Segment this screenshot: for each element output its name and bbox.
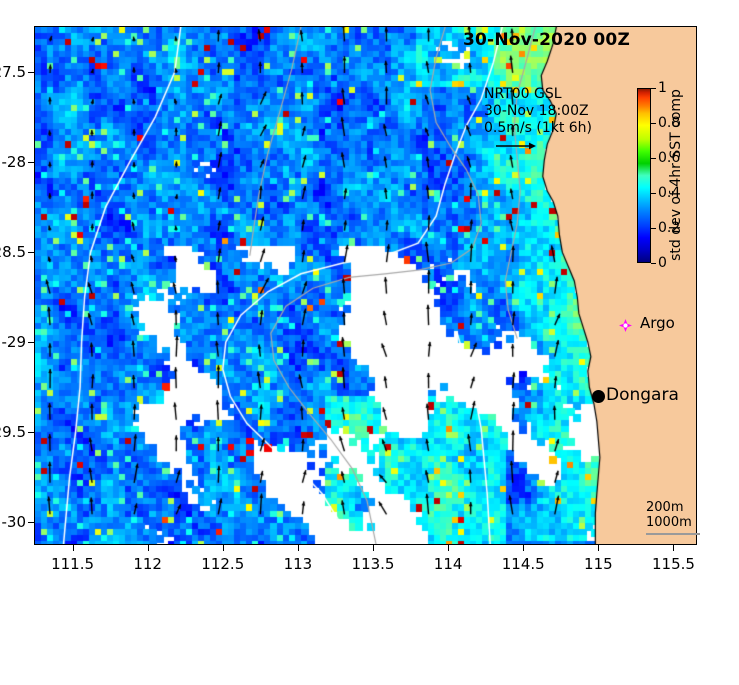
colorbar-tick xyxy=(651,158,656,159)
vector-scale-arrow-icon xyxy=(496,139,592,156)
x-axis-tick-label: 115.5 xyxy=(652,555,695,573)
map-overlay-layer xyxy=(35,27,696,544)
colorbar-tick xyxy=(651,263,656,264)
current-vector-legend: NRT00 GSL 30-Nov 18:00Z 0.5m/s (1kt 6h) xyxy=(484,86,592,156)
y-axis-tick xyxy=(28,252,34,253)
arrow-right-icon xyxy=(496,141,536,151)
x-axis-tick-label: 114 xyxy=(434,555,463,573)
x-axis-tick xyxy=(673,545,674,551)
colorbar-tick-label: 0 xyxy=(658,255,667,271)
map-title: 30-Nov-2020 00Z xyxy=(463,30,630,50)
x-axis-tick-label: 114.5 xyxy=(502,555,545,573)
y-axis-tick xyxy=(28,72,34,73)
x-axis-tick-label: 111.5 xyxy=(51,555,94,573)
x-axis-tick xyxy=(448,545,449,551)
vector-legend-line1: NRT00 GSL xyxy=(484,86,592,103)
x-axis-tick-label: 113.5 xyxy=(352,555,395,573)
depth-scale-bar: 200m 1000m xyxy=(646,500,700,535)
x-axis-tick-label: 112 xyxy=(133,555,162,573)
map-plot-area[interactable] xyxy=(34,26,697,545)
x-axis-tick xyxy=(73,545,74,551)
y-axis-tick-label: -28 xyxy=(2,153,27,171)
y-axis-tick xyxy=(28,522,34,523)
x-axis-tick-label: 112.5 xyxy=(201,555,244,573)
x-axis-tick xyxy=(223,545,224,551)
argo-float-icon[interactable] xyxy=(619,317,632,330)
scalebar-rule xyxy=(646,533,700,535)
scalebar-label-1000m: 1000m xyxy=(646,515,700,530)
x-axis-tick-label: 113 xyxy=(284,555,313,573)
y-axis-tick xyxy=(28,342,34,343)
colorbar-tick-label: 0.2 xyxy=(658,220,680,236)
argo-diamond-icon xyxy=(619,319,632,332)
y-axis-tick-label: -28.5 xyxy=(0,243,26,261)
colorbar-tick xyxy=(651,123,656,124)
x-axis-tick xyxy=(148,545,149,551)
argo-float-label: Argo xyxy=(640,314,675,332)
vector-legend-line2: 30-Nov 18:00Z xyxy=(484,103,592,120)
x-axis-tick xyxy=(373,545,374,551)
dongara-city-marker[interactable] xyxy=(592,390,605,403)
y-axis-tick xyxy=(28,162,34,163)
x-axis-tick xyxy=(298,545,299,551)
dongara-city-label: Dongara xyxy=(606,385,679,405)
colorbar-tick-label: 0.6 xyxy=(658,150,680,166)
x-axis-tick xyxy=(523,545,524,551)
colorbar-tick-label: 0.4 xyxy=(658,185,680,201)
y-axis-tick xyxy=(28,432,34,433)
colorbar-tick xyxy=(651,88,656,89)
colorbar-tick xyxy=(651,228,656,229)
x-axis-tick-label: 115 xyxy=(584,555,613,573)
colorbar-gradient xyxy=(637,88,651,263)
y-axis-tick-label: -30 xyxy=(2,513,27,531)
y-axis-tick-label: -29.5 xyxy=(0,423,26,441)
y-axis-tick-label: -29 xyxy=(2,333,27,351)
colorbar-tick-label: 1 xyxy=(658,80,667,96)
colorbar-tick xyxy=(651,193,656,194)
scalebar-label-200m: 200m xyxy=(646,500,700,515)
y-axis-tick-label: -27.5 xyxy=(0,63,26,81)
vector-legend-line3: 0.5m/s (1kt 6h) xyxy=(484,120,592,137)
x-axis-tick xyxy=(598,545,599,551)
colorbar-tick-label: 0.8 xyxy=(658,115,680,131)
